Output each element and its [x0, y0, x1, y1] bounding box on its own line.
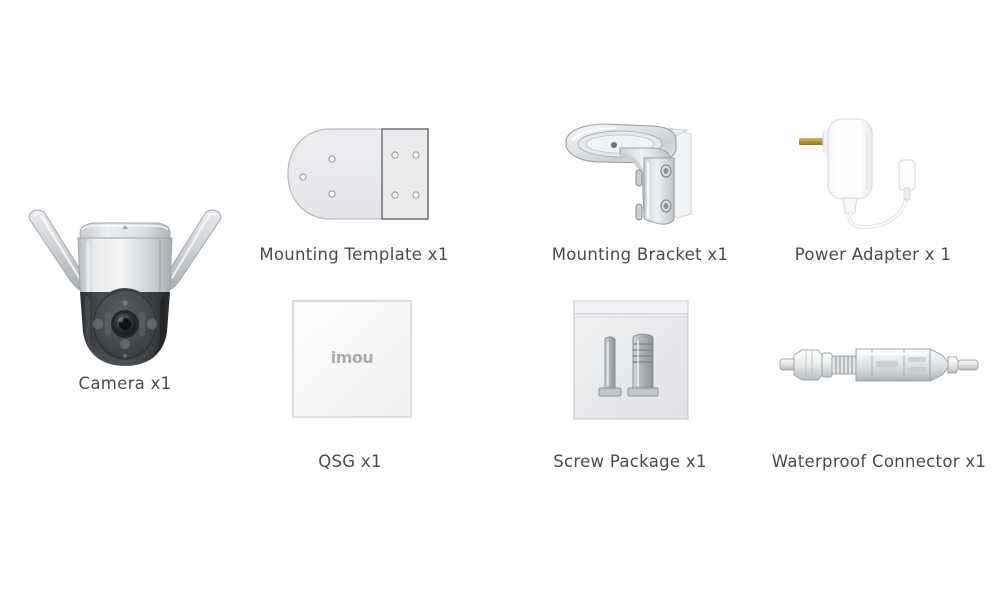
template-hole: [413, 152, 419, 158]
camera-sensor-left: [93, 319, 103, 329]
template-hole: [329, 191, 335, 197]
connector-right-nut: [948, 357, 958, 373]
template-hole: [413, 192, 419, 198]
connector-cable-right: [958, 360, 978, 370]
camera-ir-bar-left: [105, 312, 111, 336]
mounting-template-icon: [283, 125, 433, 225]
mounting-bracket-caption: Mounting Bracket x1: [552, 245, 729, 264]
waterproof-connector-illustration: [780, 335, 980, 395]
mounting-bracket-icon: [558, 118, 718, 228]
ptz-security-camera-icon: [10, 196, 240, 366]
bracket-center-hole: [611, 142, 617, 148]
connector-taper: [930, 349, 948, 381]
waterproof-connector-icon: [780, 335, 980, 395]
bracket-slot: [636, 204, 642, 220]
connector-left-collar: [822, 353, 832, 377]
connector-left-nut: [794, 350, 822, 380]
waterproof-connector-caption: Waterproof Connector x1: [772, 452, 986, 471]
connector-threads: [832, 356, 856, 374]
power-adapter-caption: Power Adapter x 1: [795, 245, 951, 264]
power-adapter-illustration: [795, 112, 955, 232]
qsg-brand-logo: imou: [331, 348, 374, 367]
adapter-body: [828, 119, 872, 199]
package-contents-canvas: Camera x1 Mounting Template x1: [0, 0, 1000, 600]
screw: [628, 334, 658, 396]
template-hole: [300, 174, 306, 180]
qsg-illustration: imou: [292, 300, 412, 418]
camera-indicator-bottom: [120, 339, 130, 349]
mounting-template-illustration: [283, 125, 433, 225]
power-adapter-icon: [795, 112, 955, 232]
camera-sensor-right: [147, 319, 157, 329]
camera-ir-bar-right: [139, 312, 145, 336]
template-hole: [329, 156, 335, 162]
template-hole: [392, 192, 398, 198]
mounting-bracket-illustration: [558, 118, 718, 228]
template-hole: [392, 152, 398, 158]
screw-package-illustration: [573, 300, 689, 420]
bracket-slot: [636, 170, 642, 186]
quick-start-guide-icon: imou: [292, 300, 412, 418]
qsg-caption: QSG x1: [318, 452, 382, 471]
screw-package-caption: Screw Package x1: [553, 452, 707, 471]
camera-indicator-top: [122, 300, 127, 305]
wall-anchor-flange: [599, 388, 621, 396]
camera-caption: Camera x1: [79, 374, 172, 393]
adapter-dc-connector: [899, 160, 915, 190]
screw-bag-zip: [574, 301, 688, 317]
camera-housing: [78, 238, 172, 295]
camera-illustration: [10, 196, 240, 366]
mounting-template-panel: [382, 129, 428, 219]
screw-package-bag-icon: [573, 300, 689, 420]
adapter-dc-tip: [904, 188, 910, 200]
screw-flange: [628, 388, 658, 396]
screw-bag: [574, 301, 688, 419]
mounting-template-caption: Mounting Template x1: [259, 245, 448, 264]
